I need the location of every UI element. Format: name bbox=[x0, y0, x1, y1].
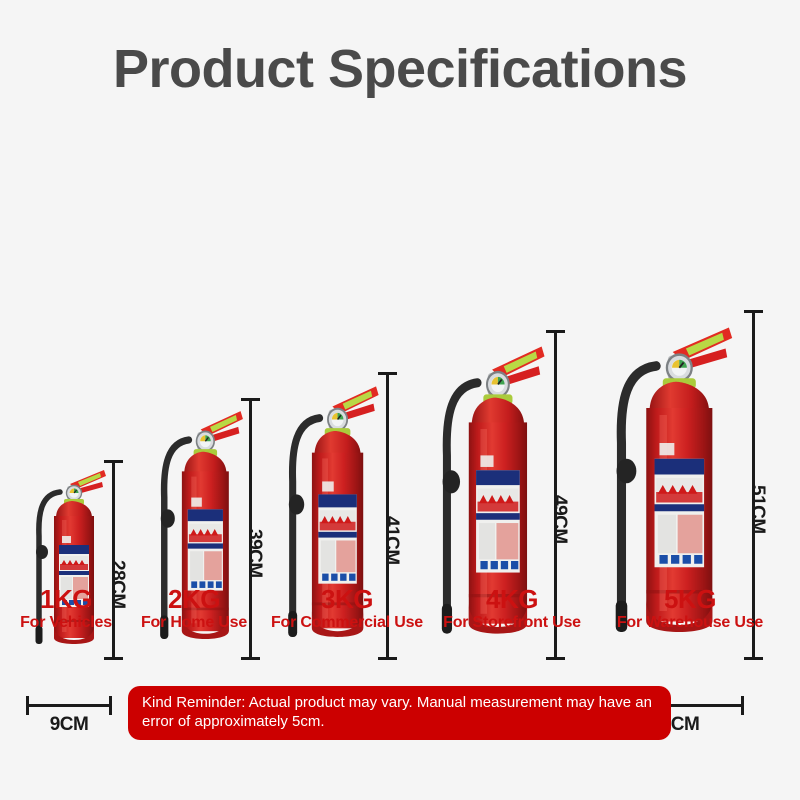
product-lineup: 9CM 28CM bbox=[0, 140, 800, 660]
use-label-3kg: For Commercial Use bbox=[262, 613, 432, 634]
kind-reminder-banner: Kind Reminder: Actual product may vary. … bbox=[128, 686, 671, 740]
height-value-2kg: 39CM bbox=[243, 529, 265, 578]
caption-2kg: 2KG For Home Use bbox=[128, 586, 260, 634]
weight-label-2kg: 2KG bbox=[128, 586, 260, 613]
width-value-1kg: 9CM bbox=[26, 714, 112, 736]
dimension-cap-bottom bbox=[744, 657, 763, 660]
caption-4kg: 4KG For Storefront Use bbox=[434, 586, 590, 634]
kind-reminder-text: Kind Reminder: Actual product may vary. … bbox=[142, 693, 657, 731]
use-label-5kg: For Warehouse Use bbox=[592, 613, 788, 634]
dimension-cap-bottom bbox=[378, 657, 397, 660]
use-label-4kg: For Storefront Use bbox=[434, 613, 590, 634]
weight-label-5kg: 5KG bbox=[592, 586, 788, 613]
caption-5kg: 5KG For Warehouse Use bbox=[592, 586, 788, 634]
dimension-cap-right bbox=[109, 696, 112, 715]
dimension-cap-bottom bbox=[104, 657, 123, 660]
height-value-4kg: 49CM bbox=[548, 495, 570, 544]
product-spec-page: Product Specifications bbox=[0, 0, 800, 800]
weight-label-1kg: 1KG bbox=[4, 586, 128, 613]
weight-label-3kg: 3KG bbox=[262, 586, 432, 613]
weight-label-4kg: 4KG bbox=[434, 586, 590, 613]
dimension-cap-right bbox=[741, 696, 744, 715]
caption-3kg: 3KG For Commercial Use bbox=[262, 586, 432, 634]
height-value-3kg: 41CM bbox=[380, 516, 402, 565]
use-label-1kg: For Vehicles bbox=[4, 613, 128, 634]
product-captions: 1KG For Vehicles 2KG For Home Use 3KG Fo… bbox=[0, 586, 800, 646]
dimension-cap-bottom bbox=[546, 657, 565, 660]
use-label-2kg: For Home Use bbox=[128, 613, 260, 634]
dimension-cap-bottom bbox=[241, 657, 260, 660]
caption-1kg: 1KG For Vehicles bbox=[4, 586, 128, 634]
page-title: Product Specifications bbox=[0, 38, 800, 100]
dimension-line bbox=[26, 704, 112, 707]
height-value-5kg: 51CM bbox=[746, 485, 768, 534]
